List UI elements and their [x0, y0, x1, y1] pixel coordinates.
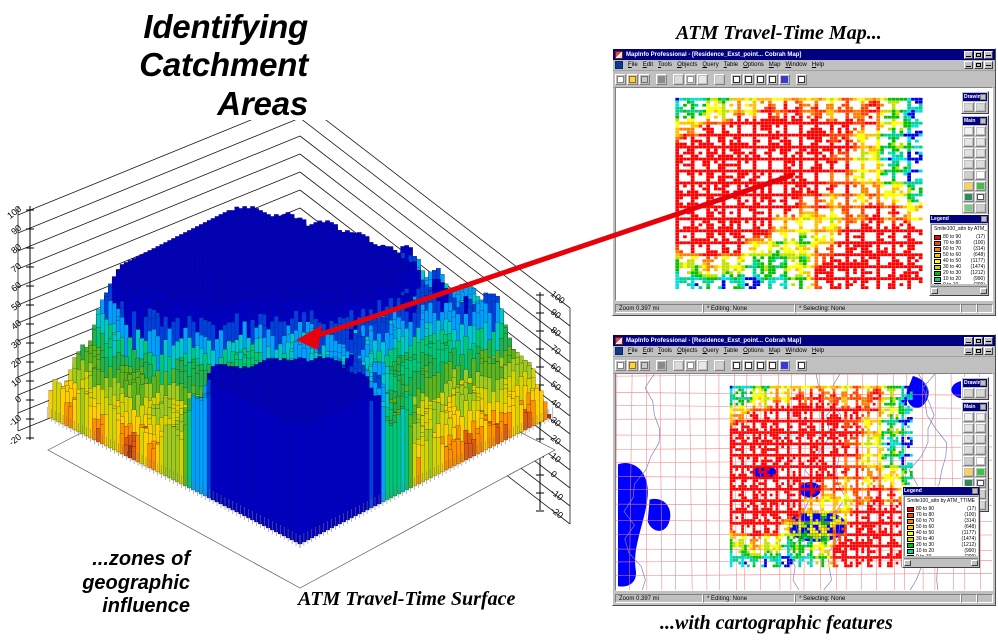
z-tick-left-0: 100 [5, 204, 23, 221]
page-title-line-1: Identifying [8, 8, 308, 46]
open-table-icon[interactable] [627, 74, 638, 85]
line-tool-icon[interactable] [975, 102, 986, 112]
mapinfo-window-top[interactable]: MapInfo Professional - [Residence_Exst_p… [612, 48, 996, 316]
legend-swatch [907, 525, 914, 530]
legend-swatch [907, 537, 914, 542]
legend-swatch [934, 241, 941, 246]
menu-item-edit[interactable]: Edit [643, 347, 653, 355]
document-icon[interactable] [615, 347, 623, 355]
status-zoom: Zoom 0.397 mi [615, 594, 703, 603]
legend-swatch [934, 277, 941, 282]
drawing-palette-title[interactable]: Drawing [963, 379, 987, 387]
legend-title-bar[interactable]: Legend [903, 487, 979, 495]
main-palette-label: Main [964, 404, 980, 411]
polygon-select-icon[interactable] [975, 137, 986, 147]
legend-range-label: 0 to 10 [943, 282, 958, 284]
print-icon[interactable] [656, 74, 667, 85]
legend-swatch [934, 247, 941, 252]
unselect-all-icon[interactable] [975, 434, 986, 444]
legend-window-top[interactable]: Legend Smlte100_attn by ATM_TTIME 80 to … [929, 214, 989, 296]
zoom-in-icon[interactable] [963, 445, 974, 455]
maximize-button[interactable] [974, 337, 983, 345]
menu-bar[interactable]: File Edit Tools Objects Query Table Opti… [613, 346, 995, 357]
new-redistrict-icon[interactable] [779, 360, 790, 371]
help-icon[interactable] [796, 360, 807, 371]
legend-scroll-left-icon[interactable] [904, 560, 911, 566]
new-browser-icon[interactable] [731, 74, 742, 85]
select-arrow-icon[interactable] [963, 412, 974, 422]
menu-item-map[interactable]: Map [769, 61, 781, 69]
z-tick-left-4: 60 [9, 280, 23, 294]
legend-rows: 80 to 90(17)70 to 80(100)60 to 70(314)50… [934, 234, 985, 284]
legend-window-bottom[interactable]: Legend Smlte100_attn by ATM_TTIME 80 to … [902, 486, 980, 568]
map-caption-top: ATM Travel-Time Map... [676, 22, 882, 45]
drawing-palette-label: Drawing [964, 380, 980, 387]
legend-swatch [934, 259, 941, 264]
zoom-in-icon[interactable] [963, 159, 974, 169]
new-table-icon[interactable] [615, 360, 626, 371]
z-tick-left-3: 70 [9, 261, 23, 275]
legend-rows: 80 to 90(17)70 to 80(100)60 to 70(314)50… [907, 506, 976, 556]
legend-scroll-left-icon[interactable] [931, 288, 938, 294]
window-buttons[interactable] [964, 337, 993, 345]
status-extra-2 [977, 594, 993, 603]
z-tick-left-6: 40 [9, 318, 23, 332]
symbol-tool-icon[interactable] [963, 102, 974, 112]
legend-swatch [934, 265, 941, 270]
legend-scroll-right-icon[interactable] [971, 560, 978, 566]
page-title-line-3: Areas [8, 85, 308, 123]
status-selecting: * Selecting: None [795, 594, 961, 603]
legend-row: 0 to 10(209) [907, 554, 976, 556]
legend-swatch [934, 253, 941, 258]
surface-caption: ATM Travel-Time Surface [298, 588, 515, 611]
z-tick-left-1: 90 [9, 223, 23, 237]
maximize-button[interactable] [974, 51, 983, 59]
legend-swatch [907, 555, 914, 557]
z-tick-left-2: 80 [9, 242, 23, 256]
new-grapher-icon[interactable] [755, 74, 766, 85]
legend-body-top: Smlte100_attn by ATM_TTIME 80 to 90(17)7… [931, 224, 987, 284]
menu-bar[interactable]: File Edit Tools Objects Query Table Opti… [613, 60, 995, 71]
status-editing: * Editing: None [703, 304, 795, 313]
title-bar[interactable]: MapInfo Professional - [Residence_Exst_p… [613, 335, 995, 346]
radius-select-icon[interactable] [963, 137, 974, 147]
map-caption-bottom: ...with cartographic features [660, 612, 893, 635]
menu-item-window[interactable]: Window [785, 61, 806, 69]
new-mapper-icon[interactable] [743, 74, 754, 85]
menu-item-objects[interactable]: Objects [677, 61, 697, 69]
menu-item-options[interactable]: Options [743, 61, 764, 69]
minimize-button[interactable] [964, 337, 973, 345]
ruler-icon[interactable] [975, 203, 986, 213]
menu-item-tools[interactable]: Tools [658, 61, 672, 69]
zones-caption: ...zones of geographic influence [12, 548, 190, 619]
legend-count: (209) [964, 554, 976, 556]
surface-mesh [49, 206, 551, 544]
new-grapher-icon[interactable] [755, 360, 766, 371]
boundary-select-icon[interactable] [963, 148, 974, 158]
legend-swatch [907, 507, 914, 512]
menu-item-file[interactable]: File [628, 347, 638, 355]
menu-item-objects[interactable]: Objects [677, 347, 697, 355]
marquee-select-icon[interactable] [975, 412, 986, 422]
drawing-palette-buttons[interactable] [963, 388, 987, 398]
z-tick-left-10: 0 [13, 394, 23, 405]
main-palette-buttons[interactable] [963, 126, 987, 224]
status-bar-top: Zoom 0.397 mi * Editing: None * Selectin… [615, 303, 993, 314]
status-extra-1 [961, 594, 977, 603]
zones-caption-line-2: geographic [12, 572, 190, 596]
drag-map-icon[interactable] [975, 192, 986, 202]
drawing-palette-title[interactable]: Drawing [963, 93, 987, 101]
menu-item-table[interactable]: Table [724, 61, 738, 69]
main-palette-title[interactable]: Main [963, 403, 987, 411]
legend-title-bar[interactable]: Legend [930, 215, 988, 223]
mapinfo-window-bottom[interactable]: MapInfo Professional - [Residence_Exst_p… [612, 334, 996, 606]
z-tick-left-5: 50 [9, 299, 23, 313]
save-table-icon[interactable] [639, 74, 650, 85]
paste-icon[interactable] [697, 360, 708, 371]
z-tick-left-9: 10 [9, 375, 23, 389]
mdi-close-button[interactable] [984, 347, 993, 355]
boundary-select-icon[interactable] [963, 434, 974, 444]
map-canvas-top[interactable]: Drawing Main [615, 87, 993, 301]
status-bar-bottom: Zoom 0.397 mi * Editing: None * Selectin… [615, 593, 993, 604]
mdi-minimize-button[interactable] [964, 61, 973, 69]
grabber-icon[interactable] [975, 456, 986, 466]
change-view-icon[interactable] [963, 170, 974, 180]
close-button[interactable] [984, 337, 993, 345]
legend-swatch [907, 513, 914, 518]
print-icon[interactable] [656, 360, 667, 371]
legend-range-label: 0 to 10 [916, 554, 931, 556]
zoom-out-icon[interactable] [975, 445, 986, 455]
main-palette-title[interactable]: Main [963, 117, 987, 125]
new-mapper-icon[interactable] [743, 360, 754, 371]
surface-z-axis-left: 100 90 80 70 60 50 40 30 20 10 0 -10 -20 [5, 204, 34, 448]
status-selecting: * Selecting: None [795, 304, 961, 313]
zones-caption-line-1: ...zones of [12, 548, 190, 572]
surface-plot: 100 90 80 70 60 50 40 30 20 10 0 -10 -20 [0, 120, 600, 590]
legend-title-label: Legend [931, 216, 981, 223]
z-tick-left-11: -10 [7, 413, 23, 429]
main-palette-close-icon[interactable] [980, 118, 986, 124]
page-title-line-2: Catchment [8, 46, 308, 84]
hotlink-icon[interactable] [975, 181, 986, 191]
drawing-palette-buttons[interactable] [963, 102, 987, 112]
status-extra-1 [961, 304, 977, 313]
menu-item-tools[interactable]: Tools [658, 347, 672, 355]
select-arrow-icon[interactable] [963, 126, 974, 136]
main-palette-label: Main [964, 118, 980, 125]
legend-close-icon[interactable] [981, 216, 987, 222]
copy-icon[interactable] [685, 360, 696, 371]
legend-swatch [934, 283, 941, 285]
main-palette-top[interactable]: Main [961, 115, 989, 226]
symbol-tool-icon[interactable] [963, 388, 974, 398]
undo-icon[interactable] [714, 360, 725, 371]
mapinfo-app-icon[interactable] [615, 337, 623, 345]
legend-title-label: Legend [904, 488, 972, 495]
z-tick-left-7: 30 [9, 337, 23, 351]
status-extra-2 [977, 304, 993, 313]
legend-scroll-right-icon[interactable] [980, 288, 987, 294]
title-bar[interactable]: MapInfo Professional - [Residence_Exst_p… [613, 49, 995, 60]
surface-plot-svg: 100 90 80 70 60 50 40 30 20 10 0 -10 -20 [0, 120, 600, 590]
page-title: Identifying Catchment Areas [8, 8, 308, 123]
new-layout-icon[interactable] [767, 74, 778, 85]
new-table-icon[interactable] [615, 74, 626, 85]
legend-swatch [934, 235, 941, 240]
legend-heading: Smlte100_attn by ATM_TTIME [934, 226, 985, 233]
change-view-icon[interactable] [963, 456, 974, 466]
legend-swatch [934, 271, 941, 276]
save-table-icon[interactable] [639, 360, 650, 371]
mdi-restore-button[interactable] [974, 347, 983, 355]
legend-swatch [907, 531, 914, 536]
menu-item-table[interactable]: Table [724, 347, 738, 355]
legend-row: 0 to 10(209) [934, 282, 985, 284]
polygon-select-icon[interactable] [975, 423, 986, 433]
status-zoom: Zoom 0.397 mi [615, 304, 703, 313]
mdi-buttons[interactable] [964, 347, 993, 355]
menu-item-window[interactable]: Window [785, 347, 806, 355]
mapinfo-app-icon[interactable] [615, 51, 623, 59]
info-tool-icon[interactable] [963, 181, 974, 191]
drawing-palette-label: Drawing [964, 94, 980, 101]
copy-icon[interactable] [685, 74, 696, 85]
radius-select-icon[interactable] [963, 423, 974, 433]
label-tool-icon[interactable] [963, 192, 974, 202]
line-tool-icon[interactable] [975, 388, 986, 398]
legend-scrollbar[interactable] [931, 286, 987, 294]
menu-item-edit[interactable]: Edit [643, 61, 653, 69]
legend-close-icon[interactable] [972, 488, 978, 494]
layer-control-icon[interactable] [963, 203, 974, 213]
marquee-select-icon[interactable] [975, 126, 986, 136]
slide-canvas: Identifying Catchment Areas [0, 0, 998, 642]
close-button[interactable] [984, 51, 993, 59]
menu-item-options[interactable]: Options [743, 347, 764, 355]
new-layout-icon[interactable] [767, 360, 778, 371]
cut-icon[interactable] [673, 360, 684, 371]
legend-body-bottom: Smlte100_attn by ATM_TTIME 80 to 90(17)7… [904, 496, 978, 556]
z-tick-left-12: -20 [7, 432, 23, 448]
drawing-palette-close-icon[interactable] [980, 94, 986, 100]
hotlink-icon[interactable] [975, 467, 986, 477]
cut-icon[interactable] [673, 74, 684, 85]
main-palette-close-icon[interactable] [980, 404, 986, 410]
grabber-icon[interactable] [975, 170, 986, 180]
document-icon[interactable] [615, 61, 623, 69]
status-editing: * Editing: None [703, 594, 795, 603]
map-canvas-bottom[interactable]: Drawing Main [615, 373, 993, 591]
info-tool-icon[interactable] [963, 467, 974, 477]
zones-caption-line-3: influence [12, 595, 190, 619]
menu-item-help[interactable]: Help [812, 347, 824, 355]
mdi-restore-button[interactable] [974, 61, 983, 69]
mdi-minimize-button[interactable] [964, 347, 973, 355]
new-browser-icon[interactable] [731, 360, 742, 371]
legend-heading: Smlte100_attn by ATM_TTIME [907, 498, 976, 505]
drawing-palette-bottom[interactable]: Drawing [961, 377, 989, 400]
window-title: MapInfo Professional - [Residence_Exst_p… [626, 51, 961, 59]
menu-item-map[interactable]: Map [769, 347, 781, 355]
mdi-close-button[interactable] [984, 61, 993, 69]
legend-swatch [907, 543, 914, 548]
standard-toolbar[interactable] [613, 357, 995, 374]
paste-icon[interactable] [697, 74, 708, 85]
legend-scrollbar[interactable] [904, 558, 978, 566]
menu-item-help[interactable]: Help [812, 61, 824, 69]
drawing-palette-top[interactable]: Drawing [961, 91, 989, 114]
legend-swatch [907, 549, 914, 554]
standard-toolbar[interactable] [613, 71, 995, 88]
window-title: MapInfo Professional - [Residence_Exst_p… [626, 337, 961, 345]
undo-icon[interactable] [714, 74, 725, 85]
drawing-palette-close-icon[interactable] [980, 380, 986, 386]
menu-item-query[interactable]: Query [702, 347, 718, 355]
menu-item-query[interactable]: Query [702, 61, 718, 69]
window-buttons[interactable] [964, 51, 993, 59]
legend-swatch [907, 519, 914, 524]
unselect-all-icon[interactable] [975, 148, 986, 158]
open-table-icon[interactable] [627, 360, 638, 371]
minimize-button[interactable] [964, 51, 973, 59]
legend-count: (209) [973, 282, 985, 284]
new-redistrict-icon[interactable] [779, 74, 790, 85]
help-icon[interactable] [796, 74, 807, 85]
zoom-out-icon[interactable] [975, 159, 986, 169]
menu-item-file[interactable]: File [628, 61, 638, 69]
mdi-buttons[interactable] [964, 61, 993, 69]
